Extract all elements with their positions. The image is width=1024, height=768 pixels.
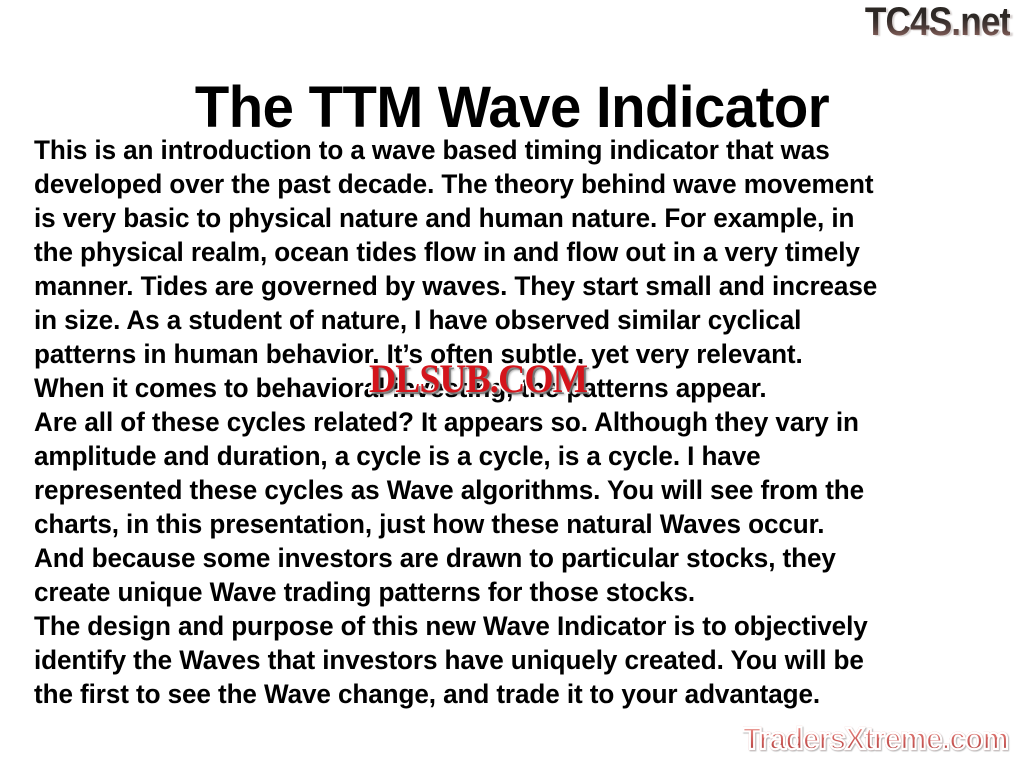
body-line: create unique Wave trading patterns for … <box>34 575 987 609</box>
body-paragraph-1: This is an introduction to a wave based … <box>34 133 1002 609</box>
body-line: When it comes to behavioral investing, t… <box>34 371 987 405</box>
tc4s-logo: TC4S.net <box>864 2 1010 42</box>
body-line: developed over the past decade. The theo… <box>34 167 987 201</box>
tradersxtreme-logo: TradersXtreme.com <box>743 722 1008 756</box>
body-line: represented these cycles as Wave algorit… <box>34 473 987 507</box>
body-line: charts, in this presentation, just how t… <box>34 507 987 541</box>
body-line: in size. As a student of nature, I have … <box>34 303 987 337</box>
body-paragraph-2: The design and purpose of this new Wave … <box>34 609 1002 711</box>
slide-title: The TTM Wave Indicator <box>15 77 1008 139</box>
body-line: patterns in human behavior. It’s often s… <box>34 337 987 371</box>
body-line: Are all of these cycles related? It appe… <box>34 405 987 439</box>
body-line: is very basic to physical nature and hum… <box>34 201 987 235</box>
presentation-slide: TC4S.net TC4S.net The TTM Wave Indicator… <box>0 0 1024 768</box>
body-line: This is an introduction to a wave based … <box>34 133 987 167</box>
body-line: the first to see the Wave change, and tr… <box>34 677 987 711</box>
body-line: manner. Tides are governed by waves. The… <box>34 269 987 303</box>
body-line: identify the Waves that investors have u… <box>34 643 987 677</box>
body-line: amplitude and duration, a cycle is a cyc… <box>34 439 987 473</box>
body-line: The design and purpose of this new Wave … <box>34 609 987 643</box>
body-line: the physical realm, ocean tides flow in … <box>34 235 987 269</box>
slide-body-text: This is an introduction to a wave based … <box>34 133 1002 711</box>
body-line: And because some investors are drawn to … <box>34 541 987 575</box>
